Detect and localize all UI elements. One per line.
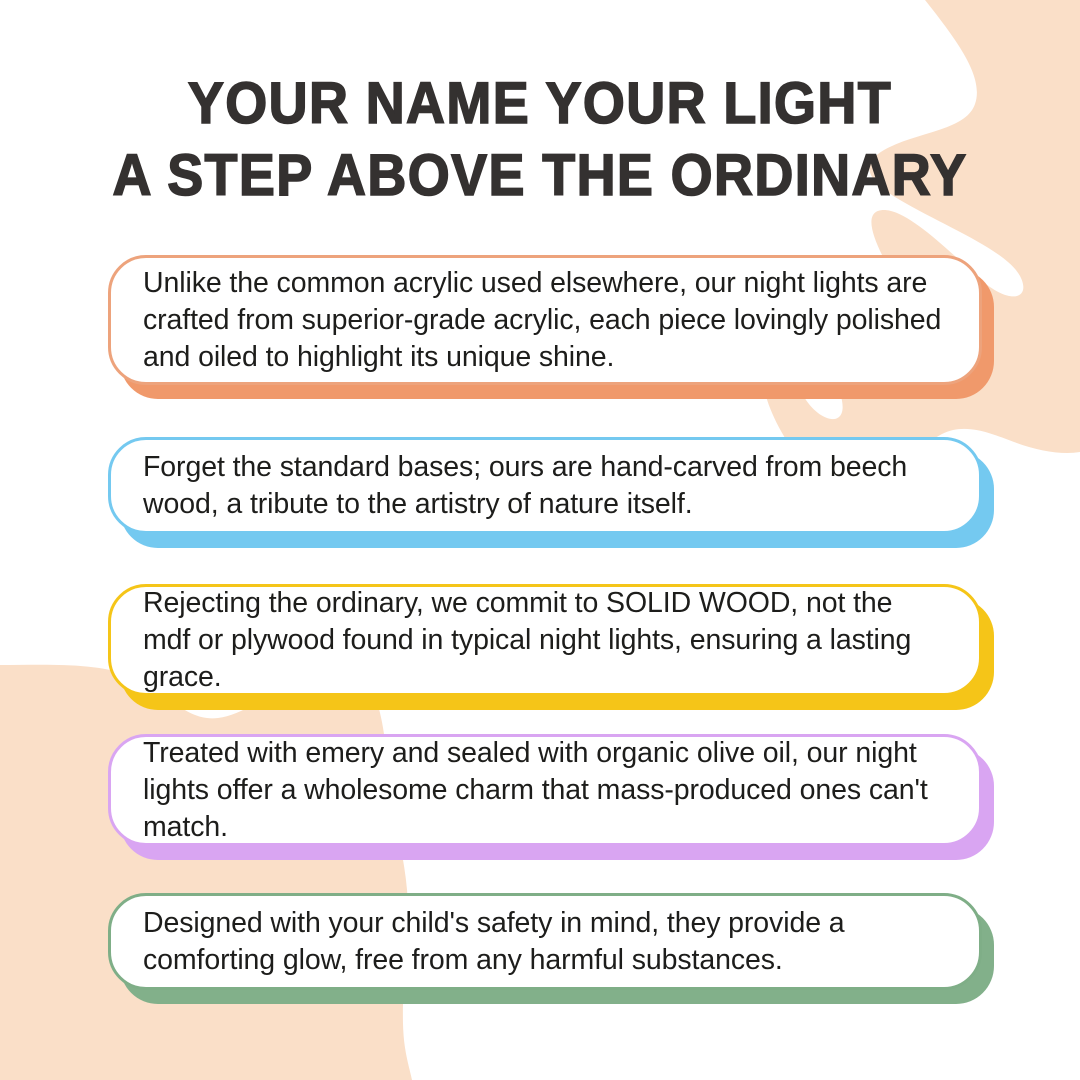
feature-card-acrylic: Unlike the common acrylic used elsewhere…	[108, 255, 982, 385]
headline-block: YOUR NAME YOUR LIGHT A STEP ABOVE THE OR…	[0, 68, 1080, 212]
feature-card-solid-wood: Rejecting the ordinary, we commit to SOL…	[108, 584, 982, 696]
card-body: Rejecting the ordinary, we commit to SOL…	[108, 584, 982, 696]
feature-card-child-safety: Designed with your child's safety in min…	[108, 893, 982, 990]
headline-line-2: A STEP ABOVE THE ORDINARY	[38, 140, 1042, 212]
promo-poster: YOUR NAME YOUR LIGHT A STEP ABOVE THE OR…	[0, 0, 1080, 1080]
card-body: Forget the standard bases; ours are hand…	[108, 437, 982, 534]
card-text: Forget the standard bases; ours are hand…	[143, 449, 945, 523]
feature-card-beech-wood: Forget the standard bases; ours are hand…	[108, 437, 982, 534]
card-text: Unlike the common acrylic used elsewhere…	[143, 265, 945, 376]
card-text: Treated with emery and sealed with organ…	[143, 735, 945, 846]
card-text: Rejecting the ordinary, we commit to SOL…	[143, 585, 945, 696]
card-body: Designed with your child's safety in min…	[108, 893, 982, 990]
card-text: Designed with your child's safety in min…	[143, 905, 945, 979]
feature-card-olive-oil: Treated with emery and sealed with organ…	[108, 734, 982, 846]
card-body: Unlike the common acrylic used elsewhere…	[108, 255, 982, 385]
headline-line-1: YOUR NAME YOUR LIGHT	[38, 68, 1042, 140]
card-body: Treated with emery and sealed with organ…	[108, 734, 982, 846]
